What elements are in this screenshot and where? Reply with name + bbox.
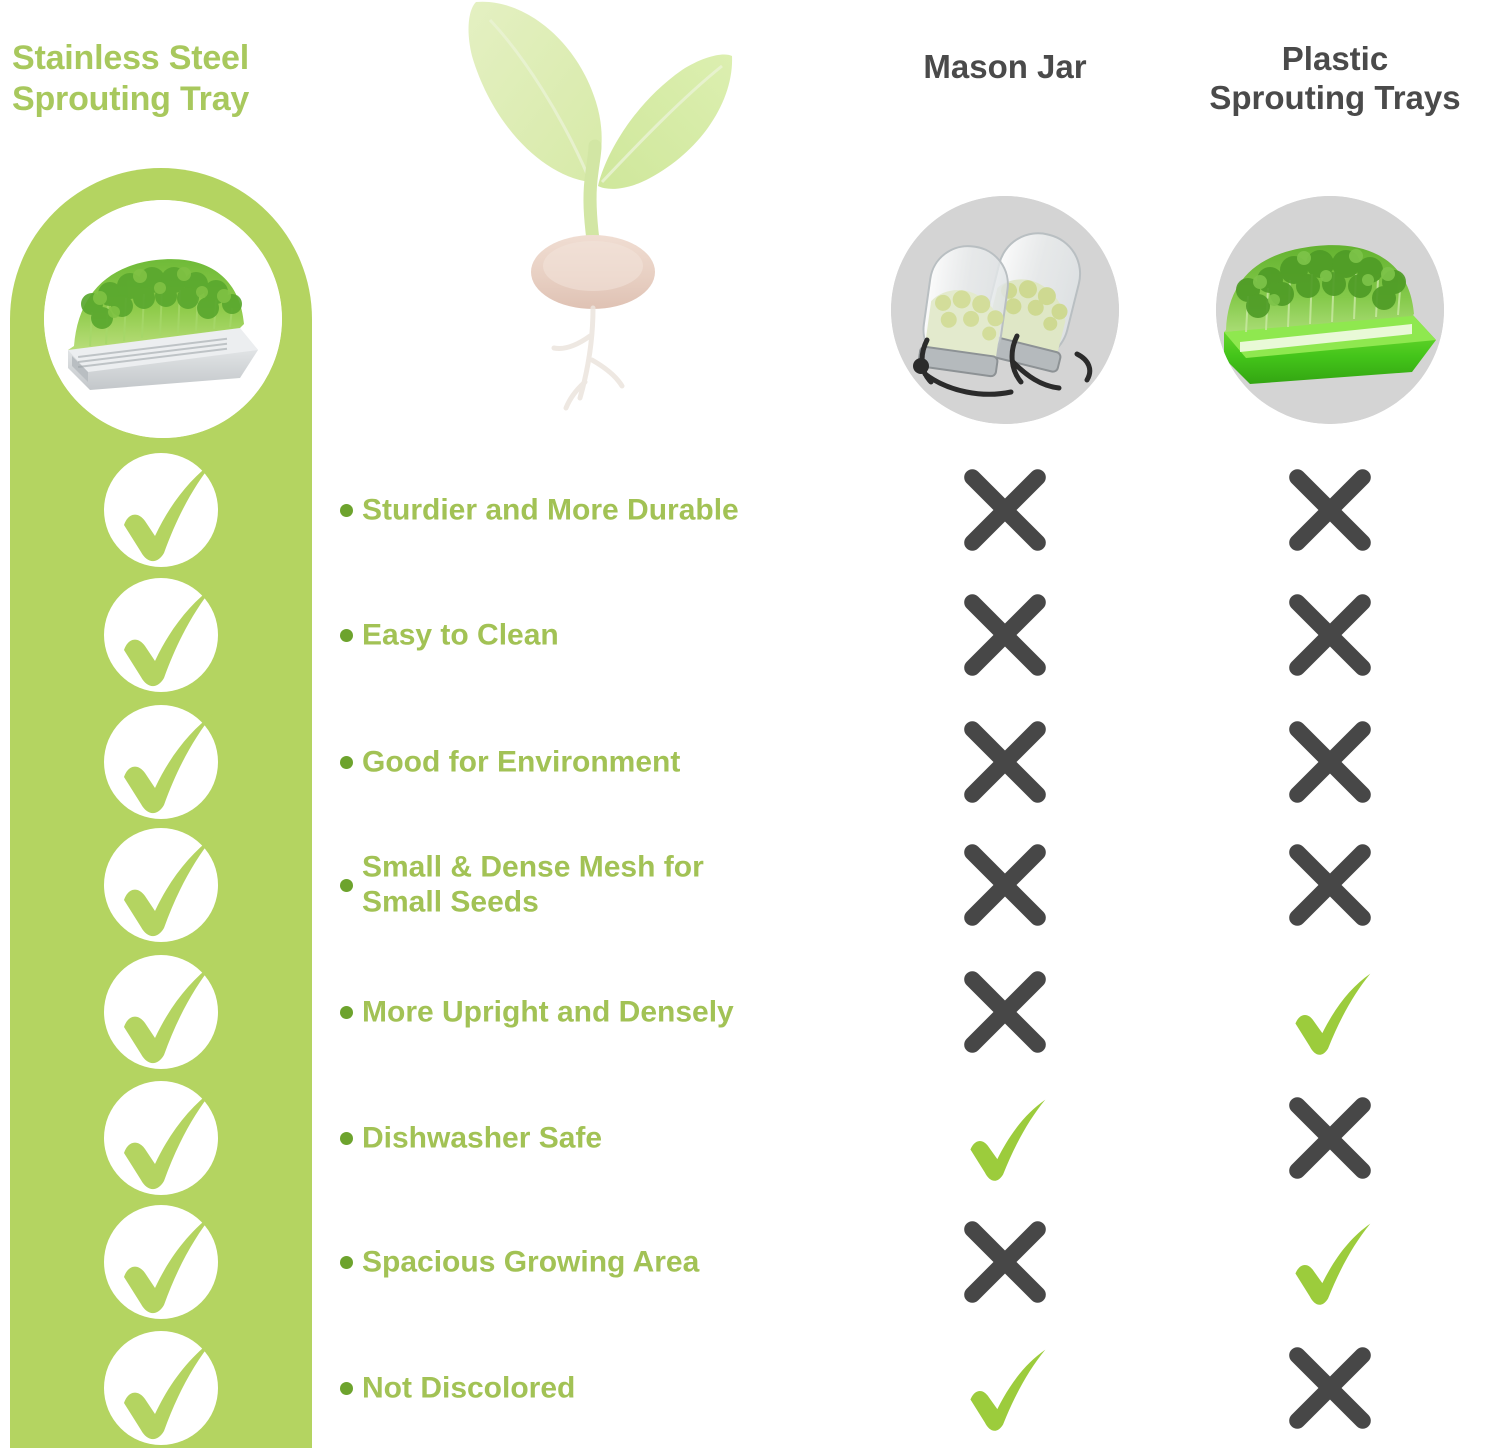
feature-label: Sturdier and More Durable bbox=[362, 492, 862, 527]
mason-jar-sprouter-photo bbox=[891, 196, 1119, 424]
check-badge-icon bbox=[104, 1331, 218, 1445]
feature-label: More Upright and Densely bbox=[362, 994, 862, 1029]
bullet-dot-icon bbox=[340, 504, 353, 517]
cross-mark-icon bbox=[957, 964, 1053, 1060]
check-badge-icon bbox=[104, 1081, 218, 1195]
check-mark-icon bbox=[1282, 964, 1378, 1060]
bullet-dot-icon bbox=[340, 1382, 353, 1395]
check-mark-icon bbox=[957, 1340, 1053, 1436]
feature-label: Dishwasher Safe bbox=[362, 1120, 862, 1155]
feature-label: Easy to Clean bbox=[362, 617, 862, 652]
bullet-dot-icon bbox=[340, 1006, 353, 1019]
check-badge-icon bbox=[104, 1205, 218, 1319]
check-badge-icon bbox=[104, 578, 218, 692]
stainless-steel-sprouting-tray-photo bbox=[44, 200, 282, 438]
check-badge-icon bbox=[104, 705, 218, 819]
column-title-plastic-trays: PlasticSprouting Trays bbox=[1175, 40, 1495, 118]
cross-mark-icon bbox=[1282, 462, 1378, 558]
comparison-infographic: Stainless SteelSprouting Tray Mason Jar … bbox=[0, 0, 1500, 1448]
cross-mark-icon bbox=[1282, 1090, 1378, 1186]
bullet-dot-icon bbox=[340, 629, 353, 642]
cross-mark-icon bbox=[957, 1214, 1053, 1310]
bullet-dot-icon bbox=[340, 879, 353, 892]
bullet-dot-icon bbox=[340, 756, 353, 769]
feature-label: Good for Environment bbox=[362, 744, 862, 779]
column-title-mason-jar: Mason Jar bbox=[855, 48, 1155, 87]
bullet-dot-icon bbox=[340, 1256, 353, 1269]
check-badge-icon bbox=[104, 453, 218, 567]
sprout-illustration-icon bbox=[430, 0, 760, 424]
page-title: Stainless SteelSprouting Tray bbox=[12, 38, 342, 121]
cross-mark-icon bbox=[957, 714, 1053, 810]
check-badge-icon bbox=[104, 828, 218, 942]
plastic-sprouting-tray-photo bbox=[1216, 196, 1444, 424]
cross-mark-icon bbox=[957, 462, 1053, 558]
feature-label: Not Discolored bbox=[362, 1370, 862, 1405]
bullet-dot-icon bbox=[340, 1132, 353, 1145]
cross-mark-icon bbox=[1282, 837, 1378, 933]
cross-mark-icon bbox=[957, 837, 1053, 933]
cross-mark-icon bbox=[1282, 587, 1378, 683]
feature-label: Small & Dense Mesh forSmall Seeds bbox=[362, 850, 862, 921]
cross-mark-icon bbox=[1282, 714, 1378, 810]
cross-mark-icon bbox=[1282, 1340, 1378, 1436]
cross-mark-icon bbox=[957, 587, 1053, 683]
check-mark-icon bbox=[957, 1090, 1053, 1186]
check-badge-icon bbox=[104, 955, 218, 1069]
feature-label: Spacious Growing Area bbox=[362, 1244, 862, 1279]
check-mark-icon bbox=[1282, 1214, 1378, 1310]
